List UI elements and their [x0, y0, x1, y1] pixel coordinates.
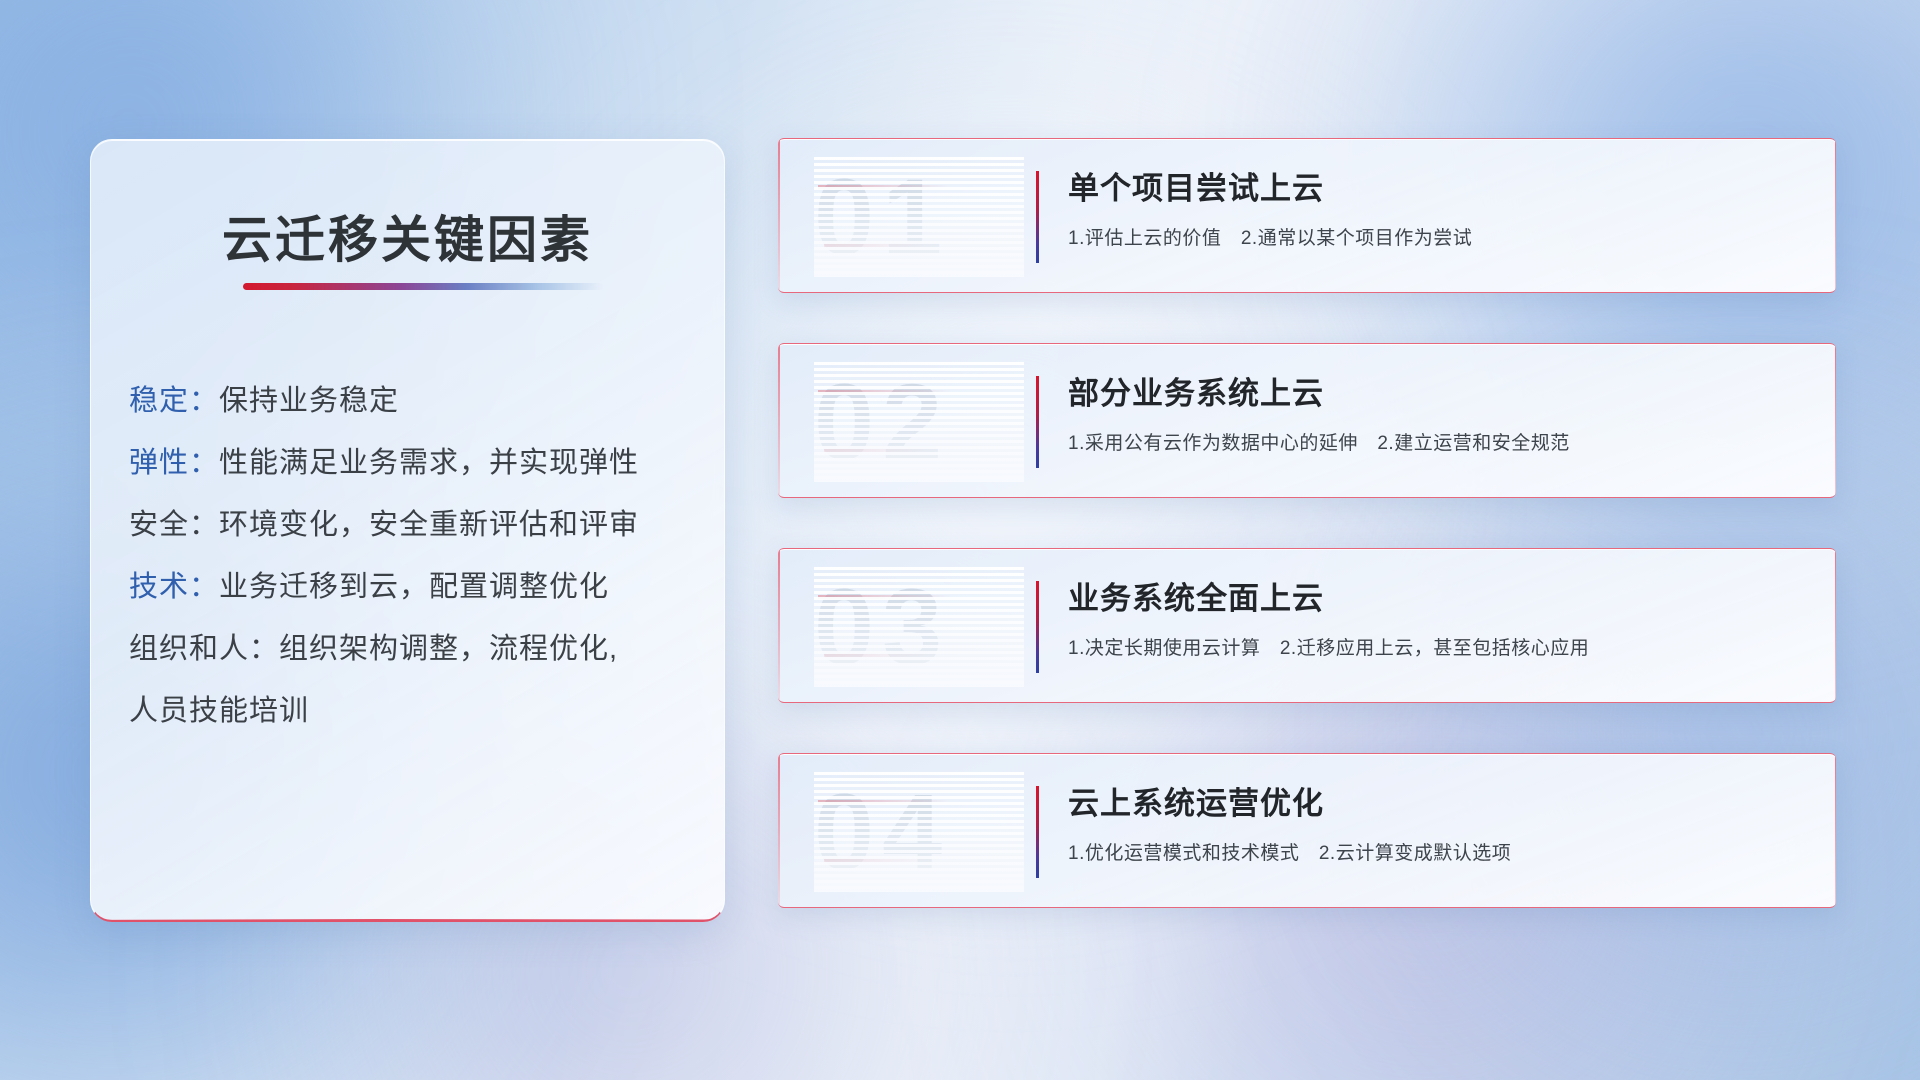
key-factor-text: 业务迁移到云，配置调整优化 [219, 571, 609, 603]
stage-card-title: 部分业务系统上云 [1068, 372, 1812, 416]
stage-card-description: 1.优化运营模式和技术模式 2.云计算变成默认选项 [1068, 838, 1812, 865]
stage-number: 04 [814, 772, 1024, 892]
stage-card-body: 业务系统全面上云1.决定长期使用云计算 2.迁移应用上云，甚至包括核心应用 [1068, 577, 1812, 660]
stage-number-watermark: 02 [814, 362, 1024, 482]
key-factor-text: 人员技能培训 [129, 695, 309, 727]
key-factor-item: 稳定：保持业务稳定 [129, 370, 694, 432]
key-factor-label: 组织和人： [129, 633, 279, 665]
stage-card-body: 单个项目尝试上云1.评估上云的价值 2.通常以某个项目作为尝试 [1068, 167, 1812, 250]
key-factor-item: 组织和人：组织架构调整，流程优化, [129, 618, 694, 680]
key-factor-label: 弹性： [129, 447, 219, 479]
key-factor-label: 技术： [129, 571, 219, 603]
key-factor-item: 弹性：性能满足业务需求，并实现弹性 [129, 432, 694, 494]
stage-card-description: 1.评估上云的价值 2.通常以某个项目作为尝试 [1068, 223, 1812, 250]
stage-card[interactable]: 02部分业务系统上云1.采用公有云作为数据中心的延伸 2.建立运营和安全规范 [778, 343, 1836, 498]
key-factor-label: 稳定： [129, 385, 219, 417]
key-factors-panel: 云迁移关键因素 稳定：保持业务稳定弹性：性能满足业务需求，并实现弹性安全：环境变… [90, 139, 725, 922]
key-factor-text: 环境变化，安全重新评估和评审 [219, 509, 639, 541]
key-factors-list: 稳定：保持业务稳定弹性：性能满足业务需求，并实现弹性安全：环境变化，安全重新评估… [129, 370, 694, 742]
key-factor-item: 人员技能培训 [129, 680, 694, 742]
stage-accent-bar [1036, 786, 1039, 878]
key-factor-text: 保持业务稳定 [219, 385, 399, 417]
stage-card-title: 单个项目尝试上云 [1068, 167, 1812, 211]
key-factor-label: 安全： [129, 509, 219, 541]
stage-card-body: 云上系统运营优化1.优化运营模式和技术模式 2.云计算变成默认选项 [1068, 782, 1812, 865]
stage-card[interactable]: 04云上系统运营优化1.优化运营模式和技术模式 2.云计算变成默认选项 [778, 753, 1836, 908]
stage-card-title: 云上系统运营优化 [1068, 782, 1812, 826]
key-factor-item: 技术：业务迁移到云，配置调整优化 [129, 556, 694, 618]
stage-card-body: 部分业务系统上云1.采用公有云作为数据中心的延伸 2.建立运营和安全规范 [1068, 372, 1812, 455]
key-factor-text: 性能满足业务需求，并实现弹性 [219, 447, 639, 479]
key-factor-item: 安全：环境变化，安全重新评估和评审 [129, 494, 694, 556]
panel-title: 云迁移关键因素 [91, 200, 724, 272]
slide-stage: 云迁移关键因素 稳定：保持业务稳定弹性：性能满足业务需求，并实现弹性安全：环境变… [0, 0, 1920, 1080]
stage-accent-bar [1036, 376, 1039, 468]
stage-number-watermark: 04 [814, 772, 1024, 892]
stage-number-watermark: 01 [814, 157, 1024, 277]
stage-accent-bar [1036, 171, 1039, 263]
stage-number: 01 [814, 157, 1024, 277]
stage-card-title: 业务系统全面上云 [1068, 577, 1812, 621]
stage-cards-list: 01单个项目尝试上云1.评估上云的价值 2.通常以某个项目作为尝试02部分业务系… [778, 138, 1836, 958]
stage-accent-bar [1036, 581, 1039, 673]
stage-number: 02 [814, 362, 1024, 482]
stage-card-description: 1.决定长期使用云计算 2.迁移应用上云，甚至包括核心应用 [1068, 633, 1812, 660]
key-factor-text: 组织架构调整，流程优化, [279, 633, 618, 665]
stage-card[interactable]: 03业务系统全面上云1.决定长期使用云计算 2.迁移应用上云，甚至包括核心应用 [778, 548, 1836, 703]
title-underline-accent [243, 283, 603, 290]
stage-number-watermark: 03 [814, 567, 1024, 687]
stage-number: 03 [814, 567, 1024, 687]
stage-card-description: 1.采用公有云作为数据中心的延伸 2.建立运营和安全规范 [1068, 428, 1812, 455]
stage-card[interactable]: 01单个项目尝试上云1.评估上云的价值 2.通常以某个项目作为尝试 [778, 138, 1836, 293]
